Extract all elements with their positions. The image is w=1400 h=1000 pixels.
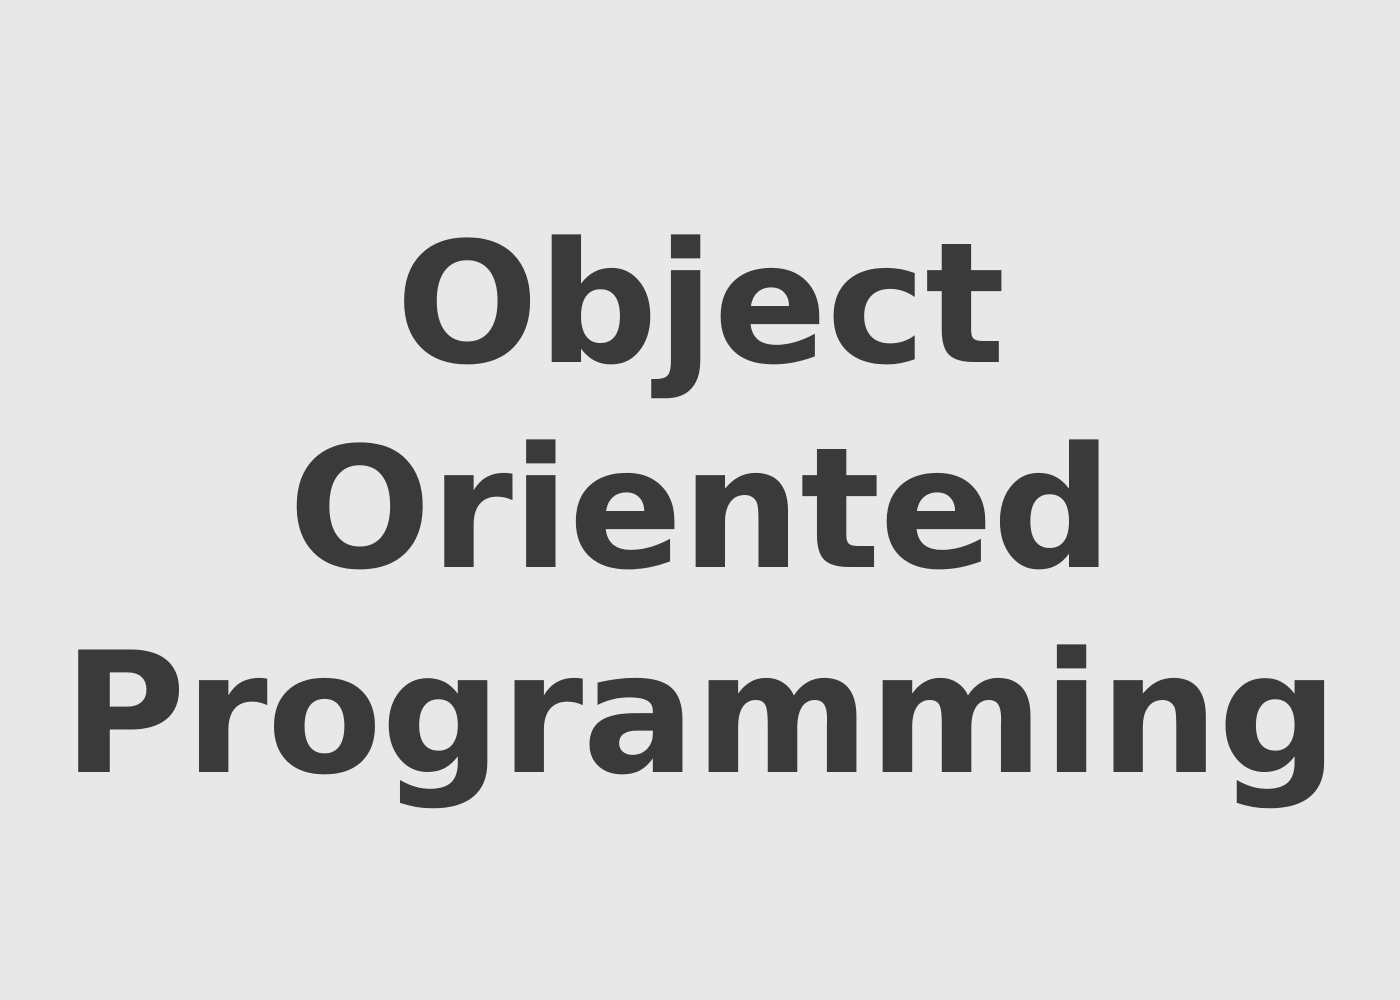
title-slide: Object Oriented Programming (0, 0, 1400, 1000)
title-line-2: Oriented (0, 407, 1400, 612)
title-line-1: Object (0, 202, 1400, 407)
title-block: Object Oriented Programming (0, 202, 1400, 817)
title-line-3: Programming (0, 612, 1400, 817)
